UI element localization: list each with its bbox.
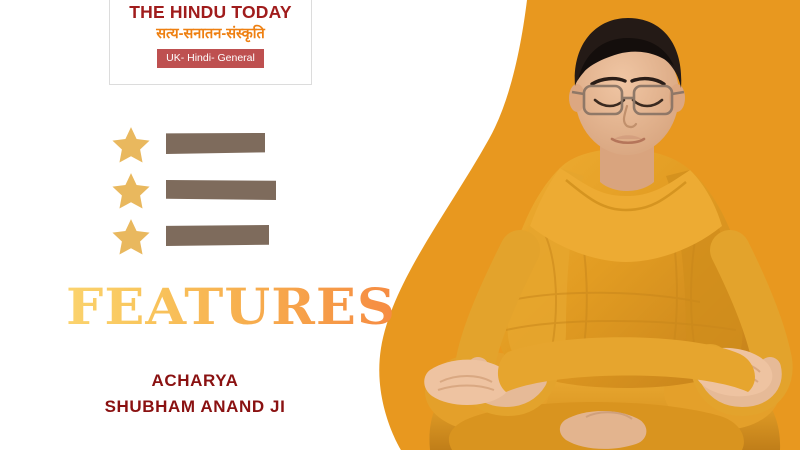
poster-canvas: THE HINDU TODAY सत्य-सनातन-संस्कृति UK- … [0,0,800,450]
masthead-title: THE HINDU TODAY [129,3,291,22]
presenter-name-line-2: SHUBHAM ANAND JI [0,394,390,420]
presenter-name: ACHARYA SHUBHAM ANAND JI [0,368,390,421]
list-item [110,216,290,262]
placeholder-bar [166,180,276,200]
star-bullet-list [110,124,290,262]
placeholder-bar [166,133,265,154]
star-icon [110,124,152,166]
left-hand-mudra [424,360,510,405]
masthead-subtitle: सत्य-सनातन-संस्कृति [156,26,265,43]
masthead-category-badge: UK- Hindi- General [157,49,264,68]
presenter-name-line-1: ACHARYA [0,368,390,394]
star-icon [110,216,152,258]
placeholder-bar [166,225,269,246]
star-icon [110,170,152,212]
masthead-card: THE HINDU TODAY सत्य-सनातन-संस्कृति UK- … [109,0,312,85]
list-item [110,124,290,170]
features-headline: FEATURES [66,282,396,332]
list-item [110,170,290,216]
